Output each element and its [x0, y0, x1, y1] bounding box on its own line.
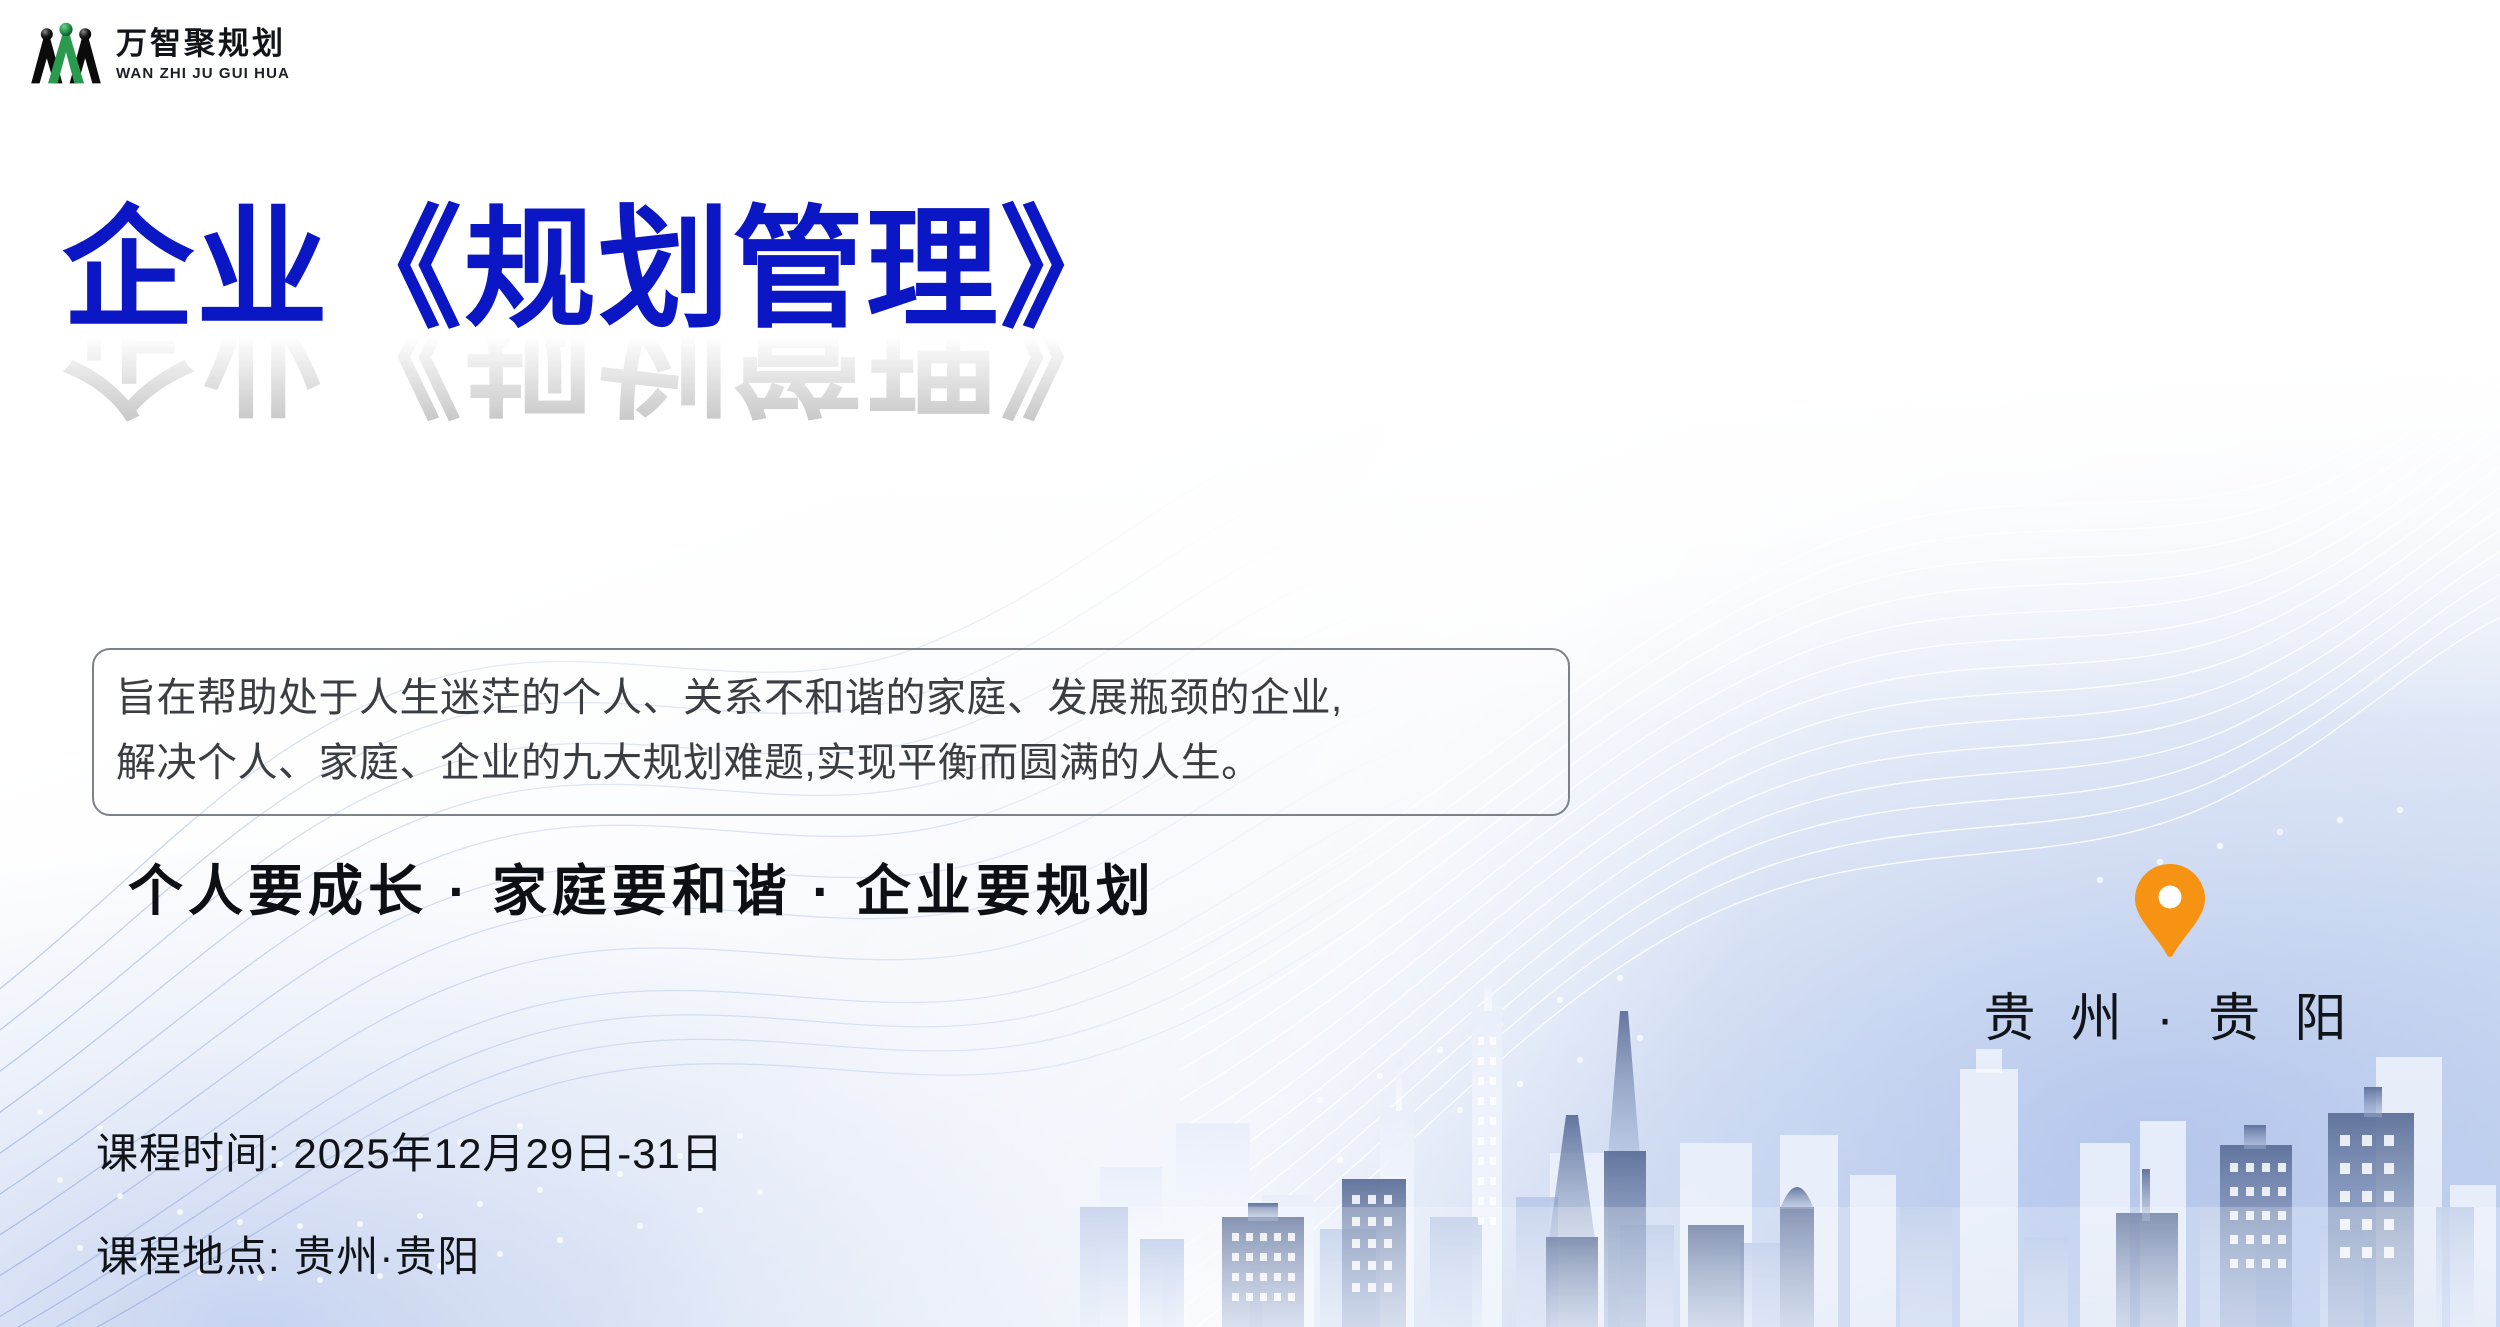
hero-description-box: 旨在帮助处于人生迷茫的个人、关系不和谐的家庭、发展瓶颈的企业, 解决个人、家庭、… — [92, 648, 1570, 816]
course-time-row: 课程时间: 2025年12月29日-31日 — [96, 1120, 724, 1181]
brand-name-en: WAN ZHI JU GUI HUA — [116, 66, 290, 81]
map-pin-icon — [2133, 862, 2207, 958]
hero-description-line-2: 解决个人、家庭、企业的九大规划难题,实现平衡而圆满的人生。 — [116, 731, 1546, 796]
brand-name-cn: 万智聚规划 — [116, 28, 290, 59]
location-city-name: 贵 州 · 贵 阳 — [1960, 976, 2380, 1051]
course-place-row: 课程地点: 贵州·贵阳 — [96, 1223, 724, 1284]
hero-title-block: 企业《规划管理》 企业《规划管理》 — [62, 196, 1322, 426]
poster-canvas: 万智聚规划 WAN ZHI JU GUI HUA 企业《规划管理》 企业《规划管… — [0, 0, 2500, 1327]
hero-description-line-1: 旨在帮助处于人生迷茫的个人、关系不和谐的家庭、发展瓶颈的企业, — [116, 666, 1546, 731]
hero-tagline: 个人要成长 · 家庭要和谐 · 企业要规划 — [128, 846, 1156, 926]
brand-logo-text: 万智聚规划 WAN ZHI JU GUI HUA — [116, 28, 290, 81]
page-title-reflection: 企业《规划管理》 — [62, 330, 1322, 426]
page-title: 企业《规划管理》 — [62, 196, 1322, 344]
course-info-block: 课程时间: 2025年12月29日-31日 课程地点: 贵州·贵阳 — [96, 1120, 724, 1284]
three-people-m-logo-icon — [30, 20, 102, 88]
location-block: 贵 州 · 贵 阳 — [1960, 862, 2380, 1051]
brand-logo: 万智聚规划 WAN ZHI JU GUI HUA — [30, 20, 290, 88]
